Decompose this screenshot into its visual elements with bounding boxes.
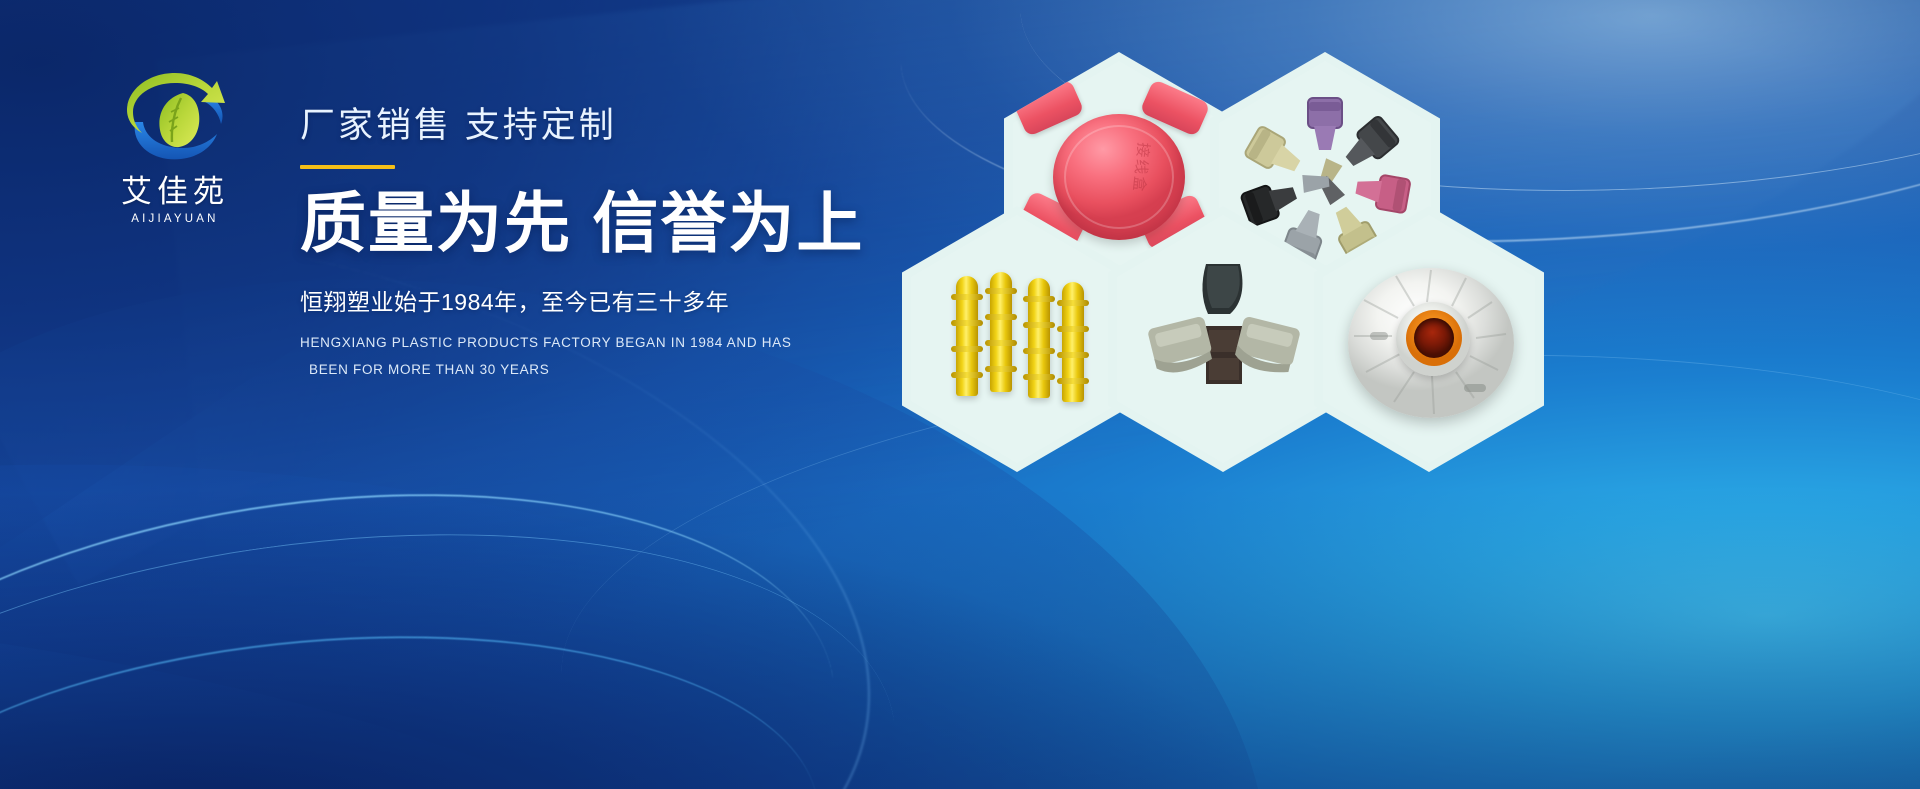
hero-banner: 艾佳苑 AIJIAYUAN 厂家销售 支持定制 质量为先 信誉为上 恒翔塑业始于… xyxy=(0,0,1920,789)
leaf-in-circle-arrow-logo-icon xyxy=(113,62,237,174)
product-hexagon-cluster: 接线盒 xyxy=(990,52,1630,472)
subtitle-english-line-1: HENGXIANG PLASTIC PRODUCTS FACTORY BEGAN… xyxy=(300,329,940,356)
subtitle-english-line-2: BEEN FOR MORE THAN 30 YEARS xyxy=(300,356,940,383)
brand-name-pinyin: AIJIAYUAN xyxy=(100,213,250,225)
page-title: 质量为先 信誉为上 xyxy=(300,187,940,261)
gold-divider xyxy=(300,165,395,169)
brand-name-cn: 艾佳苑 xyxy=(100,176,250,209)
subtitle-english: HENGXIANG PLASTIC PRODUCTS FACTORY BEGAN… xyxy=(300,329,940,383)
brand-logo[interactable]: 艾佳苑 AIJIAYUAN xyxy=(100,62,250,225)
eyebrow-text: 厂家销售 支持定制 xyxy=(300,104,940,148)
headline-block: 厂家销售 支持定制 质量为先 信誉为上 恒翔塑业始于1984年，至今已有三十多年… xyxy=(300,104,940,383)
subtitle-chinese: 恒翔塑业始于1984年，至今已有三十多年 xyxy=(300,283,940,317)
banner-left-content: 艾佳苑 AIJIAYUAN 厂家销售 支持定制 质量为先 信誉为上 恒翔塑业始于… xyxy=(0,0,980,789)
